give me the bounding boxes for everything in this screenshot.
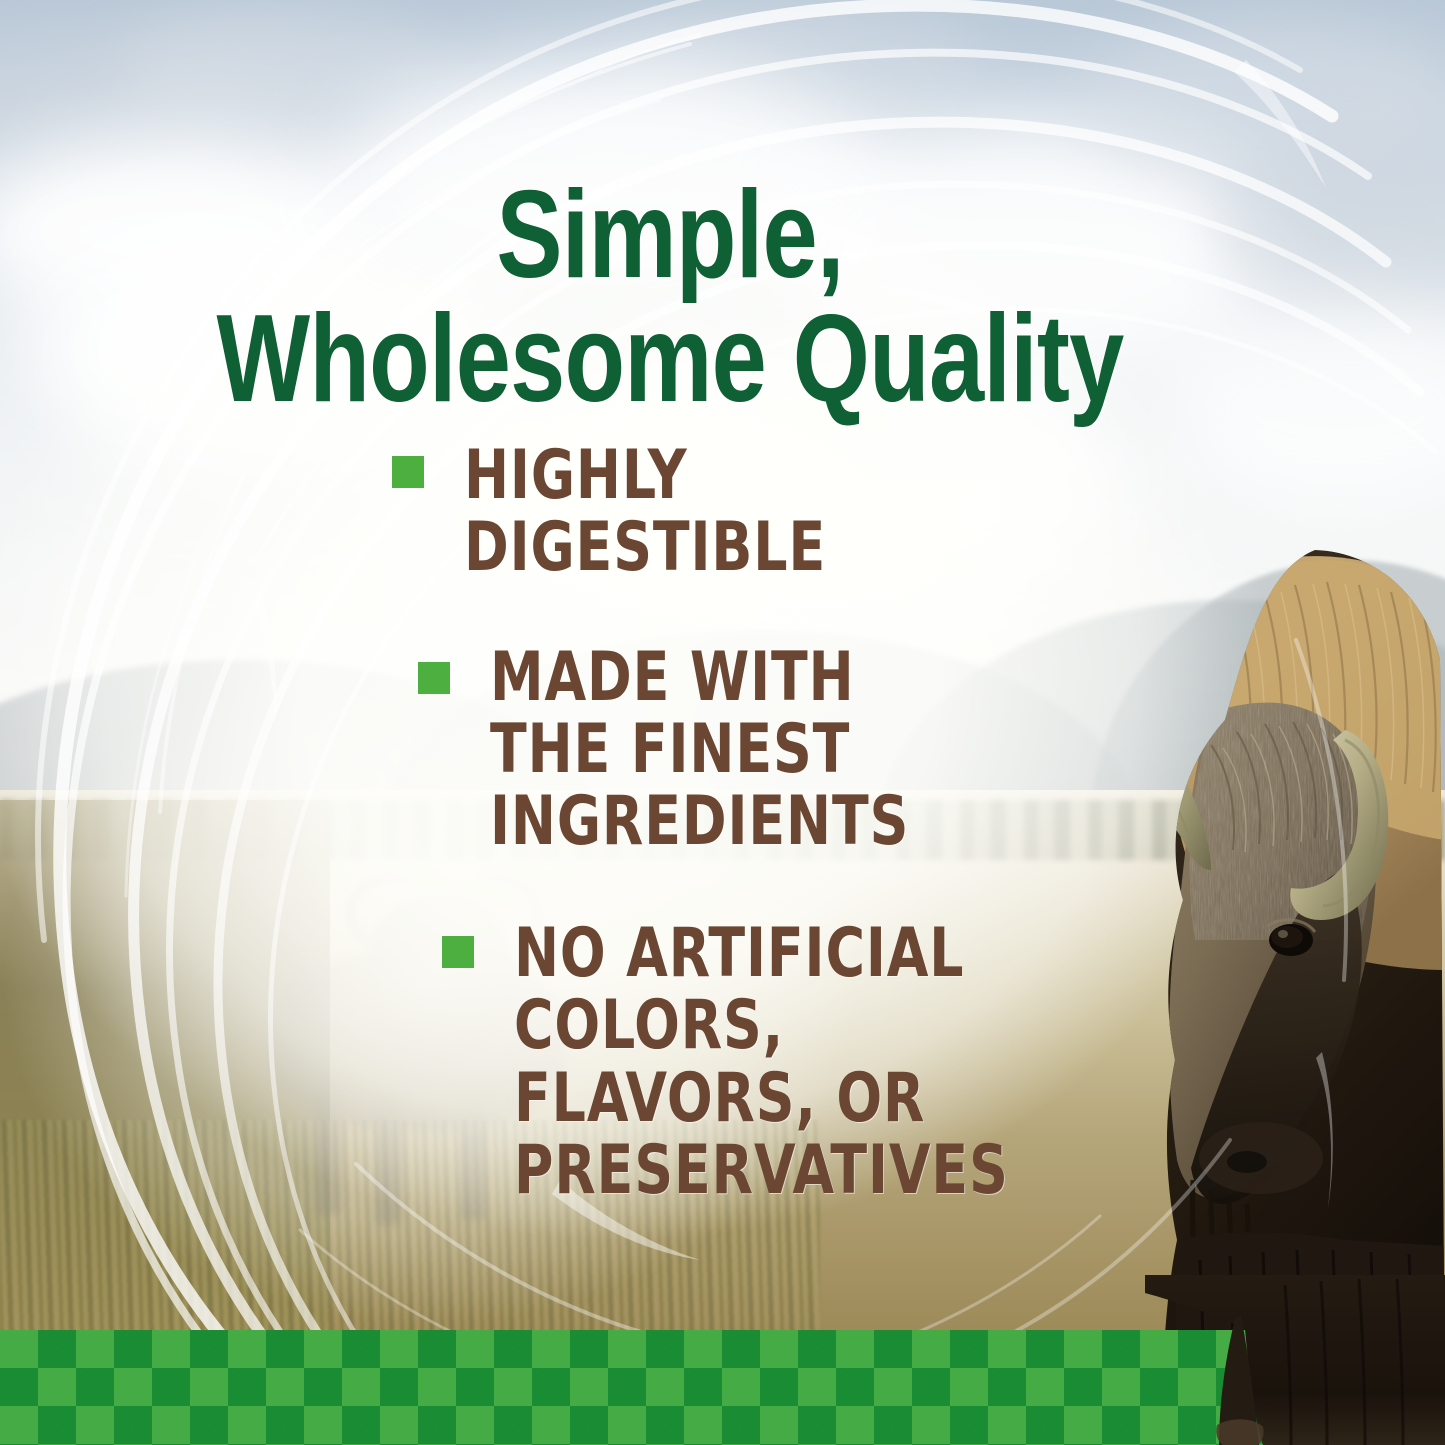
feature-label: MADE WITH THE FINEST INGREDIENTS (490, 642, 967, 858)
green-square-bullet-icon (392, 456, 424, 488)
bison-body-group (1015, 540, 1445, 1445)
green-checkerboard-footer (0, 1330, 1445, 1445)
green-square-bullet-icon (442, 936, 474, 968)
page-title-line-2: Wholesome Quality (134, 299, 1206, 421)
list-item: MADE WITH THE FINEST INGREDIENTS (418, 642, 1032, 858)
green-square-bullet-icon (418, 662, 450, 694)
bison-photo (1015, 540, 1445, 1445)
page-title: Simple, Wholesome Quality (134, 175, 1206, 420)
page-title-line-1: Simple, (134, 175, 1206, 297)
feature-label: NO ARTIFICIAL COLORS, FLAVORS, OR PRESER… (514, 918, 970, 1206)
product-feature-poster: Simple, Wholesome Quality HIGHLY DIGESTI… (0, 0, 1445, 1445)
feature-label: HIGHLY DIGESTIBLE (464, 440, 964, 584)
feature-list: HIGHLY DIGESTIBLE MADE WITH THE FINEST I… (392, 440, 1032, 1253)
list-item: NO ARTIFICIAL COLORS, FLAVORS, OR PRESER… (442, 918, 1032, 1206)
list-item: HIGHLY DIGESTIBLE (392, 440, 1032, 584)
